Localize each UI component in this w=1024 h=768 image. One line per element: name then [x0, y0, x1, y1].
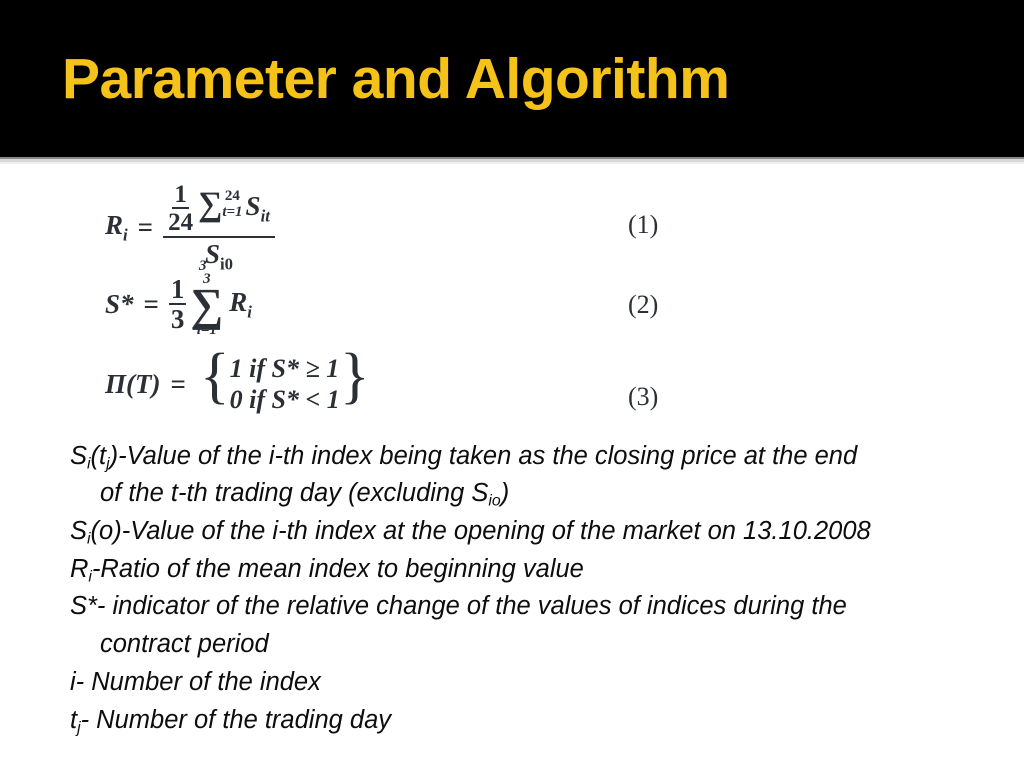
equation-1-numerator: 1 24 ∑24t=1Sit: [163, 182, 275, 238]
equation-1-inner-fraction: 1 24: [168, 182, 193, 235]
equation-3-number: (3): [628, 382, 658, 412]
equation-2-fraction: 1 3: [169, 276, 187, 333]
equation-1-number: (1): [628, 210, 658, 240]
definition-line-5: S*- indicator of the relative change of …: [70, 594, 847, 620]
definition-line-2: of the t-th trading day (excluding Sio): [100, 481, 509, 509]
equation-2-sigma: 3 ∑ i=1: [190, 272, 223, 338]
equation-3-cases: { 1 if S* ≥ 1 0 if S* < 1 }: [200, 354, 370, 415]
left-brace-icon: {: [200, 354, 230, 415]
definition-text: i- Number of the index: [70, 668, 321, 696]
equation-2-equals: =: [144, 289, 159, 320]
definition-text: S: [70, 442, 87, 470]
equation-1-equals: =: [138, 212, 153, 243]
equation-1-fraction: 1 24 ∑24t=1Sit Si0: [163, 182, 275, 273]
equation-3: Π(T) = { 1 if S* ≥ 1 0 if S* < 1 } (3): [0, 350, 1024, 428]
definition-text: R: [70, 555, 88, 583]
page-title: Parameter and Algorithm: [62, 50, 729, 110]
definition-text: (t: [91, 442, 107, 470]
definition-subscript: io: [488, 492, 500, 509]
definition-text: )-Value of the i-th index being taken as…: [110, 442, 858, 470]
equation-1-sigma-lower: t=1: [222, 205, 242, 221]
equation-3-case-1: 1 if S* ≥ 1: [230, 354, 340, 385]
equation-3-equals: =: [170, 369, 185, 400]
equation-1-lhs: Ri: [105, 210, 128, 245]
sigma-icon: ∑: [190, 287, 223, 323]
equation-2-sigma-lower: i=1: [197, 323, 217, 338]
equation-2-lhs: S*: [105, 289, 134, 320]
definition-line-7: i- Number of the index: [70, 670, 321, 696]
definition-text: ): [501, 479, 510, 507]
definition-text: - Number of the trading day: [81, 706, 391, 734]
definition-line-4: Ri-Ratio of the mean index to beginning …: [70, 557, 584, 585]
definition-line-1: Si(tj)-Value of the i-th index being tak…: [70, 444, 857, 472]
slide-body: Ri = 1 24 ∑24t=1Sit Si0 (1) 3 S*: [0, 164, 1024, 768]
equation-1-expression: Ri = 1 24 ∑24t=1Sit Si0: [105, 182, 275, 273]
equation-1-sigma-upper: 24: [225, 189, 240, 205]
slide-header-band: Parameter and Algorithm: [0, 0, 1024, 157]
definition-text: S: [70, 517, 87, 545]
equation-1: Ri = 1 24 ∑24t=1Sit Si0 (1) 3: [0, 176, 1024, 268]
equation-2-operand: Ri: [229, 287, 252, 322]
equation-1-operand: Sit: [246, 191, 270, 221]
equation-2: S* = 1 3 3 ∑ i=1 Ri (2): [0, 264, 1024, 344]
definition-text: contract period: [100, 630, 269, 658]
equation-2-number: (2): [628, 290, 658, 320]
definition-line-6: contract period: [100, 632, 269, 658]
sigma-icon: ∑: [198, 190, 222, 221]
definition-text: -Ratio of the mean index to beginning va…: [92, 555, 584, 583]
equation-3-lhs: Π(T): [105, 369, 160, 400]
definition-text: of the t-th trading day (excluding S: [100, 479, 488, 507]
equation-1-sigma: ∑24t=1: [198, 189, 242, 221]
definition-line-3: Si(o)-Value of the i-th index at the ope…: [70, 519, 871, 547]
definition-line-8: tj- Number of the trading day: [70, 708, 391, 736]
right-brace-icon: }: [340, 354, 370, 415]
definition-text: (o)-Value of the i-th index at the openi…: [91, 517, 871, 545]
equation-2-expression: S* = 1 3 3 ∑ i=1 Ri: [105, 272, 252, 338]
equation-3-expression: Π(T) = { 1 if S* ≥ 1 0 if S* < 1 }: [105, 354, 370, 415]
definition-text: S*- indicator of the relative change of …: [70, 592, 847, 620]
equation-3-case-2: 0 if S* < 1: [230, 385, 340, 416]
equations-block: Ri = 1 24 ∑24t=1Sit Si0 (1) 3 S*: [0, 164, 1024, 429]
